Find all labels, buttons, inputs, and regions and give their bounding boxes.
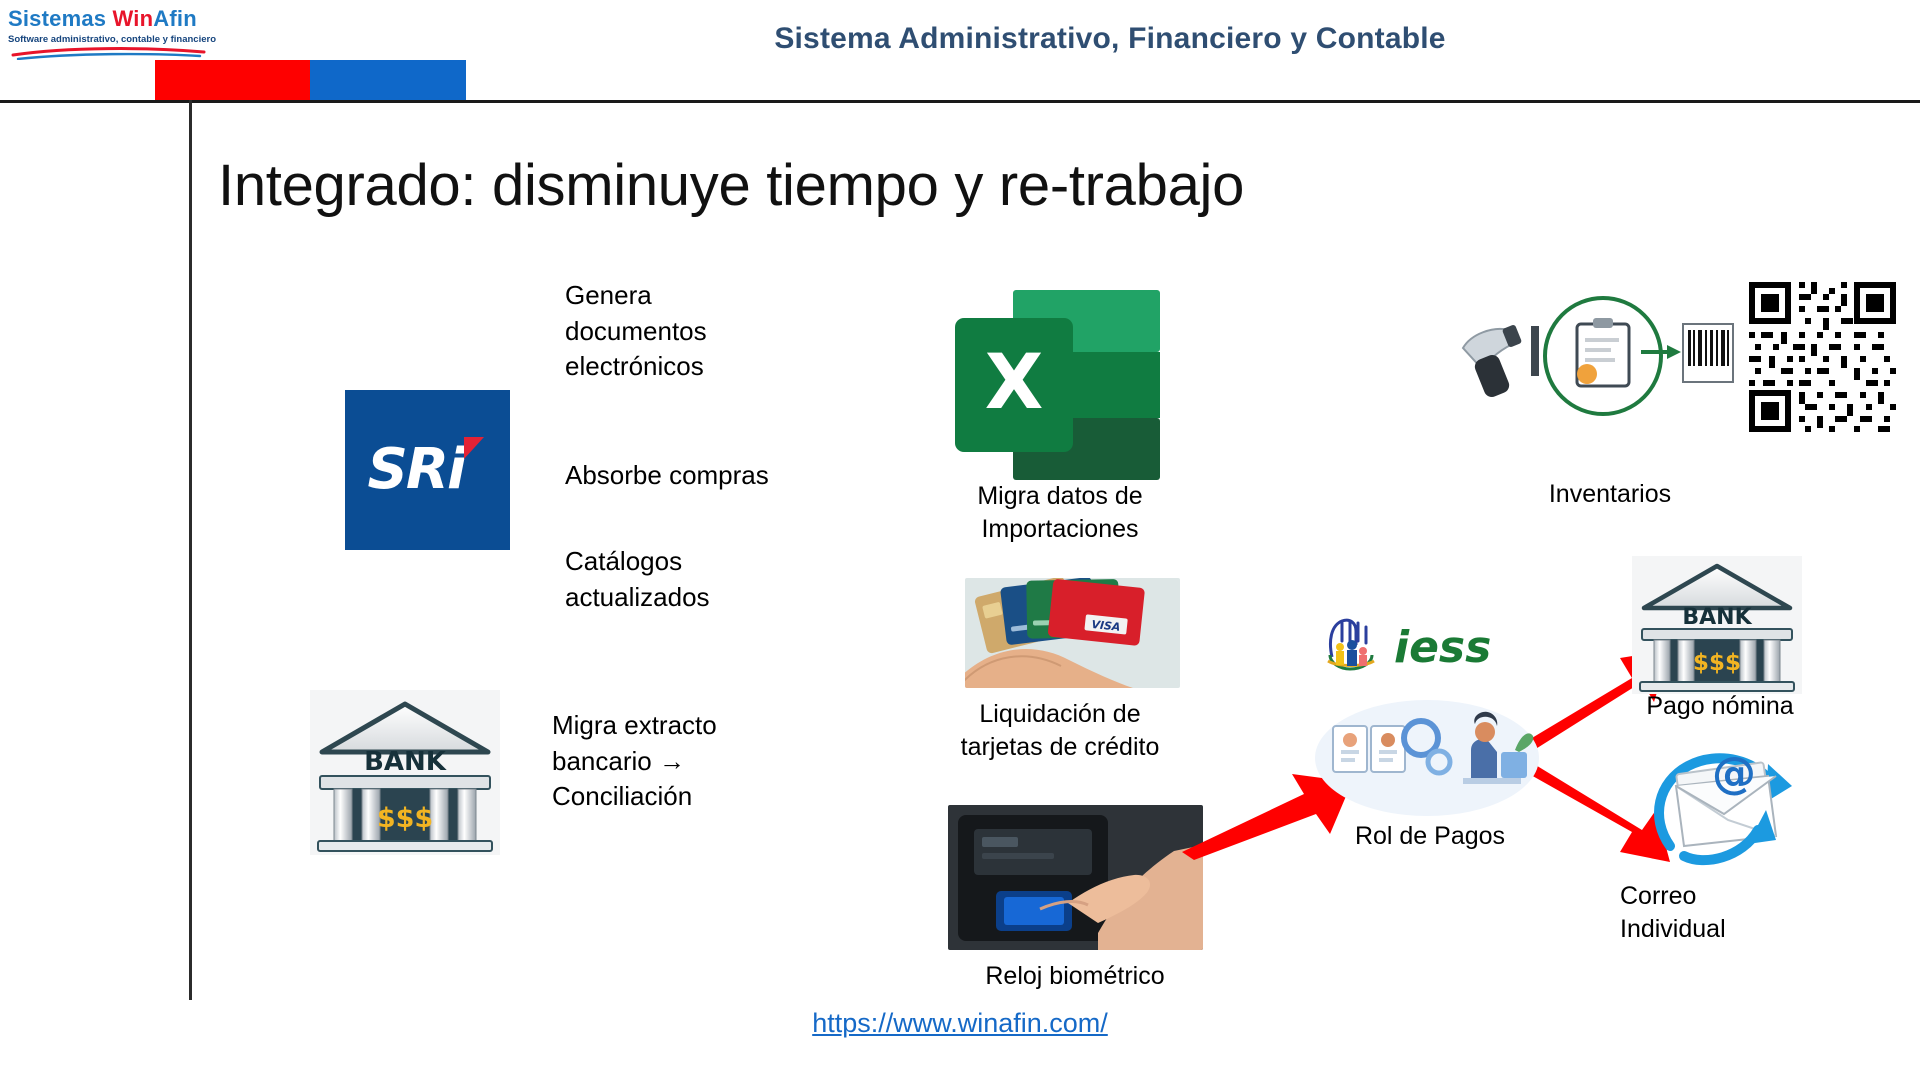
caption-line: Importaciones bbox=[905, 513, 1215, 546]
biometric-caption: Reloj biométrico bbox=[910, 960, 1240, 993]
header-title: Sistema Administrativo, Financiero y Con… bbox=[560, 22, 1660, 56]
bank-icon-payroll: BANK $$$ bbox=[1632, 556, 1802, 694]
bullet-line: Migra extracto bbox=[552, 708, 717, 744]
sri-logo: SRi bbox=[345, 390, 510, 550]
logo-tagline: Software administrativo, contable y fina… bbox=[8, 34, 223, 45]
payroll-caption: Rol de Pagos bbox=[1300, 820, 1560, 853]
qr-code-icon bbox=[1745, 278, 1900, 436]
bullet-absorbe-compras: Absorbe compras bbox=[565, 458, 769, 494]
page-title: Integrado: disminuye tiempo y re-trabajo bbox=[218, 152, 1244, 219]
iess-logo: iess bbox=[1322, 615, 1527, 677]
website-link[interactable]: https://www.winafin.com/ bbox=[0, 1008, 1920, 1039]
caption-line: Individual bbox=[1620, 913, 1870, 946]
bullet-line: Catálogos bbox=[565, 544, 710, 580]
logo-wordmark: Sistemas WinAfin bbox=[8, 6, 223, 32]
bullet-catalogos: Catálogos actualizados bbox=[565, 544, 710, 615]
bank-label-right: BANK bbox=[1682, 605, 1752, 630]
left-vertical-rule bbox=[189, 100, 192, 1000]
bullet-migra-extracto: Migra extracto bancario → Conciliación bbox=[552, 708, 717, 815]
sri-logo-text: SRi bbox=[368, 437, 465, 502]
bullet-line: actualizados bbox=[565, 580, 710, 616]
credit-cards-image: VISA bbox=[965, 578, 1180, 688]
header-divider bbox=[0, 100, 1920, 103]
svg-text:iess: iess bbox=[1394, 622, 1491, 673]
excel-logo-icon: X bbox=[955, 290, 1160, 480]
bullet-genera-documentos: Genera documentos electrónicos bbox=[565, 278, 707, 385]
email-caption: Correo Individual bbox=[1620, 880, 1870, 945]
bullet-line: Genera bbox=[565, 278, 707, 314]
logo-word-win: Win bbox=[113, 6, 154, 31]
inventory-caption: Inventarios bbox=[1450, 478, 1770, 511]
bullet-line: Conciliación bbox=[552, 779, 717, 815]
logo-swoosh-icon bbox=[8, 46, 208, 60]
logo-word-afin: Afin bbox=[153, 6, 197, 31]
bank-icon-left: BANK $$$ bbox=[310, 690, 500, 855]
credit-cards-caption: Liquidación de tarjetas de crédito bbox=[900, 698, 1220, 763]
sri-red-triangle-icon bbox=[464, 437, 484, 459]
svg-text:X: X bbox=[985, 337, 1044, 426]
company-logo[interactable]: Sistemas WinAfin Software administrativo… bbox=[8, 6, 223, 66]
svg-text:$$$: $$$ bbox=[1693, 650, 1741, 676]
logo-word-sistemas: Sistemas bbox=[8, 6, 106, 31]
biometric-clock-image bbox=[948, 805, 1203, 950]
inventory-illustration bbox=[1455, 290, 1735, 425]
website-link-text[interactable]: https://www.winafin.com/ bbox=[812, 1008, 1108, 1038]
header-bar-red bbox=[155, 60, 310, 100]
caption-line: Correo bbox=[1620, 880, 1870, 913]
svg-text:$$$: $$$ bbox=[377, 803, 433, 834]
payroll-illustration bbox=[1315, 690, 1540, 820]
caption-line: Liquidación de bbox=[900, 698, 1220, 731]
header-bar-blue bbox=[310, 60, 466, 100]
caption-line: Migra datos de bbox=[905, 480, 1215, 513]
email-icon: @ bbox=[1650, 748, 1810, 873]
caption-line: tarjetas de crédito bbox=[900, 731, 1220, 764]
excel-caption: Migra datos de Importaciones bbox=[905, 480, 1215, 545]
svg-text:BANK: BANK bbox=[364, 747, 447, 777]
slide-canvas: Sistemas WinAfin Software administrativo… bbox=[0, 0, 1920, 1080]
svg-text:@: @ bbox=[1712, 748, 1756, 799]
arrow-payroll-to-mail-icon bbox=[1520, 762, 1670, 872]
bullet-line: bancario → bbox=[552, 744, 717, 780]
bullet-line: documentos bbox=[565, 314, 707, 350]
barcode-scanner-icon bbox=[1463, 324, 1522, 399]
bank-payroll-caption: Pago nómina bbox=[1600, 690, 1840, 723]
bullet-line: electrónicos bbox=[565, 349, 707, 385]
